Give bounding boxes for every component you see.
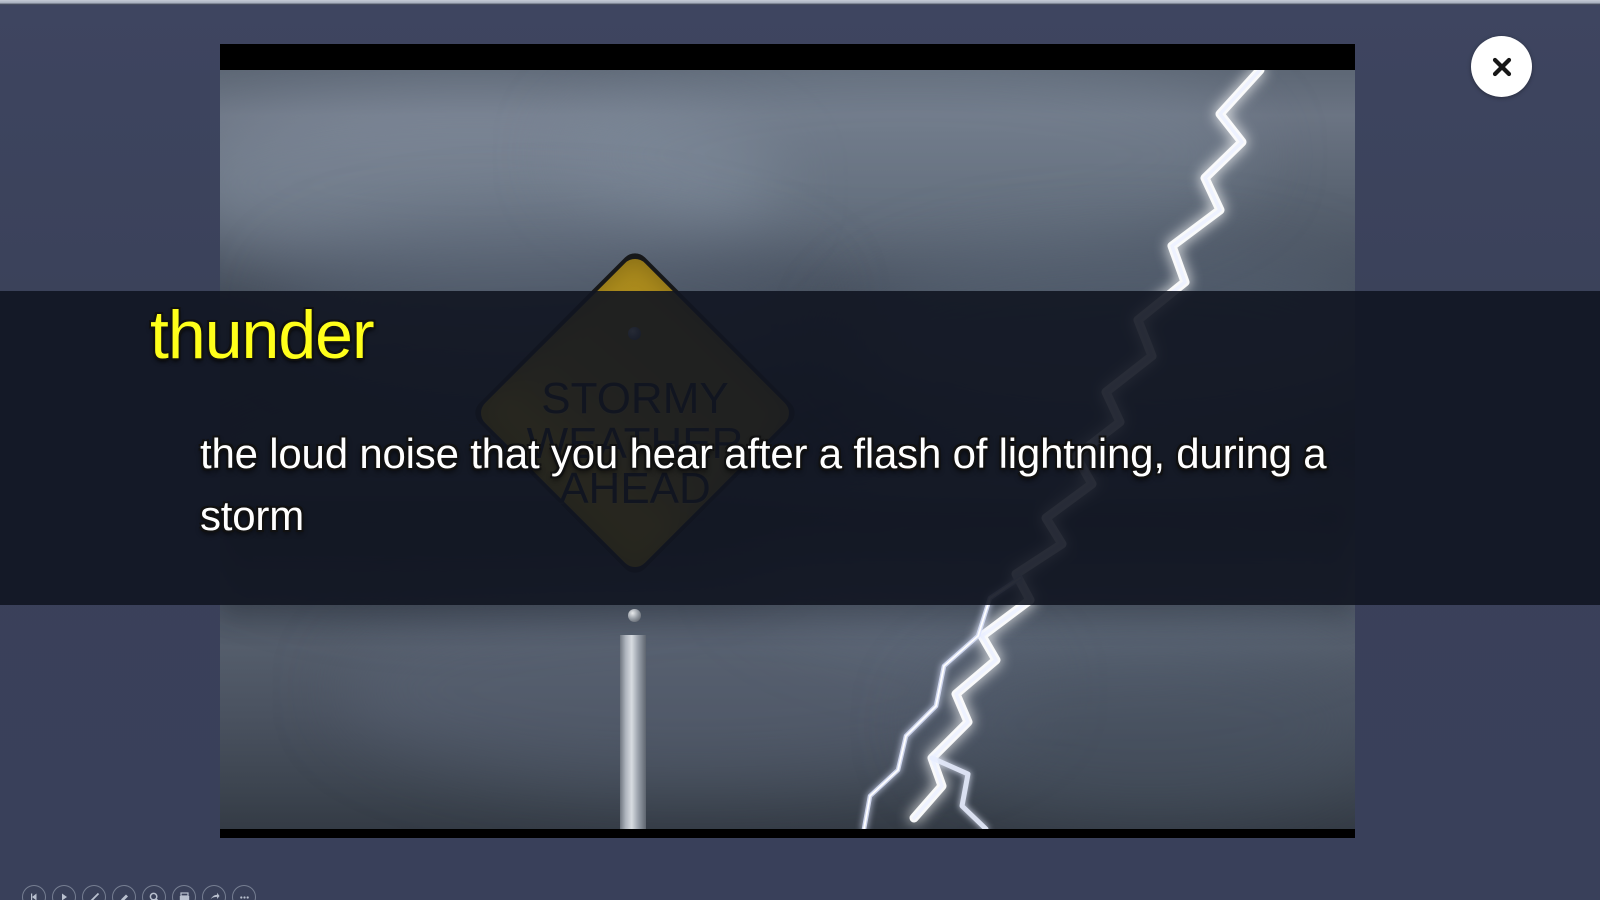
share-icon[interactable] [202,885,226,900]
media-toolbar[interactable] [22,885,256,900]
cloud-shape [920,630,1355,820]
caption-backdrop [0,291,1600,605]
play-icon[interactable] [52,885,76,900]
pencil-icon[interactable] [82,885,106,900]
cloud-shape [560,70,1260,260]
rewind-icon[interactable] [22,885,46,900]
window-top-strip [0,0,1600,5]
video-overlay-app: STORMY WEATHER AHEAD thunder the loud no… [0,0,1600,900]
letterbox-bar-bottom [220,829,1355,838]
more-icon[interactable] [232,885,256,900]
zoom-icon[interactable] [142,885,166,900]
letterbox-bar-top [220,44,1355,70]
close-icon [1489,54,1515,80]
print-icon[interactable] [172,885,196,900]
close-button[interactable] [1471,36,1532,97]
highlighter-icon[interactable] [112,885,136,900]
sign-rivet [628,609,641,622]
cloud-shape [220,90,780,280]
